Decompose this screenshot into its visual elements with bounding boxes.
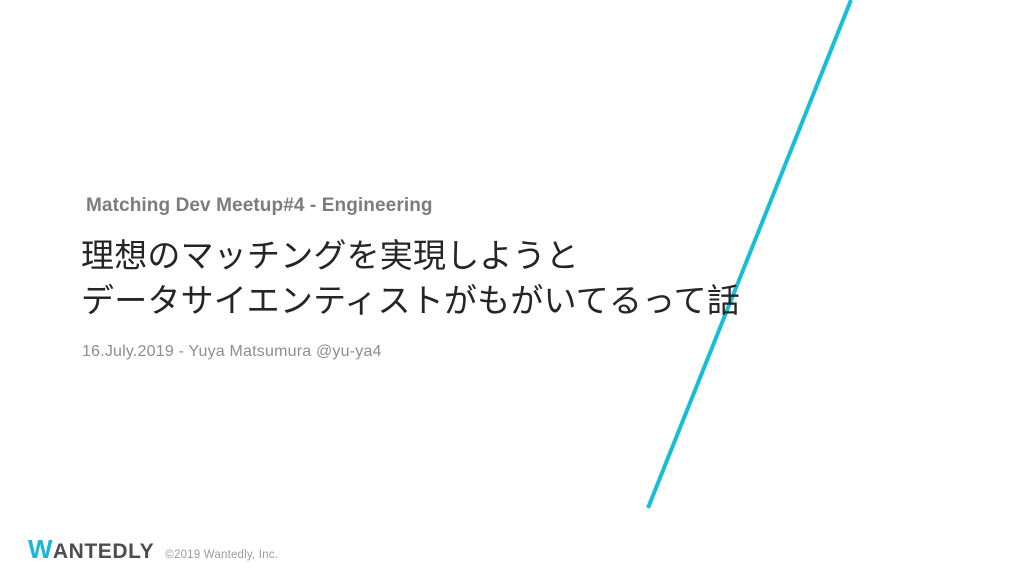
slide-content: Matching Dev Meetup#4 - Engineering 理想のマ… [81,193,961,363]
page-title: 理想のマッチングを実現しようと データサイエンティストがもがいてるって話 [81,233,961,323]
title-slide: Matching Dev Meetup#4 - Engineering 理想のマ… [0,0,1024,576]
byline: 16.July.2019 - Yuya Matsumura @yu-ya4 [82,341,961,363]
logo-initial: W [28,536,53,562]
copyright-text: ©2019 Wantedly, Inc. [165,548,278,562]
logo-wordmark: ANTEDLY [53,541,154,562]
wantedly-logo: W ANTEDLY [28,536,154,562]
title-line-2: データサイエンティストがもがいてるって話 [81,278,961,323]
event-label: Matching Dev Meetup#4 - Engineering [86,193,961,219]
slide-footer: W ANTEDLY ©2019 Wantedly, Inc. [28,536,278,562]
title-line-1: 理想のマッチングを実現しようと [81,233,961,278]
